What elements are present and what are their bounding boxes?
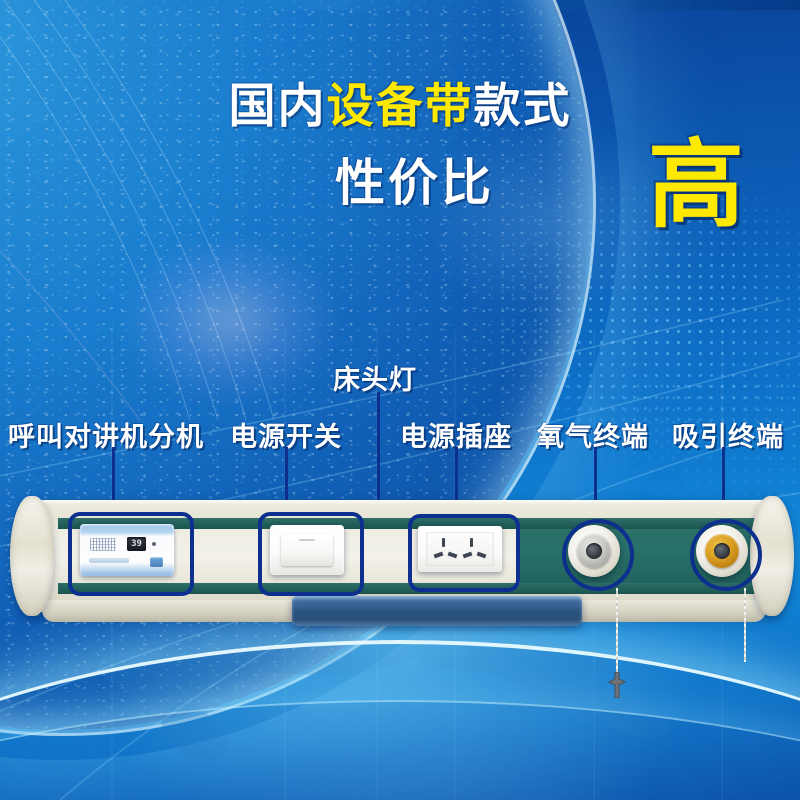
bedside-lamp-diffuser[interactable]: [292, 596, 582, 626]
headline-part-2: 款式: [474, 79, 572, 132]
headline-line-2: 性价比: [335, 158, 494, 208]
highlight-oxygen: [562, 519, 634, 591]
globe-horizon-arc: [0, 640, 800, 800]
lens-flare-2: [420, 120, 680, 320]
headline-accent: 设备带: [327, 79, 474, 132]
highlight-socket: [408, 514, 520, 592]
headline-line-1: 国内设备带款式: [0, 82, 800, 129]
highlight-suction: [690, 519, 762, 591]
highlight-intercom: [68, 512, 194, 596]
lens-flare: [120, 235, 340, 405]
oxygen-pull-cord: [616, 588, 618, 674]
highlight-switch: [258, 512, 364, 596]
suction-pull-cord: [744, 588, 746, 662]
callout-label-oxygen: 氧气终端: [537, 415, 649, 454]
medical-equipment-panel: 39: [22, 500, 782, 630]
headline-big-word: 高: [648, 138, 744, 234]
top-edge-glow: [0, 0, 800, 10]
callout-label-intercom: 呼叫对讲机分机: [8, 415, 204, 454]
headline-part-1: 国内: [229, 79, 327, 132]
panel-end-cap-left: [10, 496, 54, 616]
promo-banner: 国内设备带款式 性价比 高 呼叫对讲机分机电源开关床头灯电源插座氧气终端吸引终端…: [0, 0, 800, 800]
callout-label-bedlamp: 床头灯: [333, 358, 417, 397]
callout-label-suction: 吸引终端: [672, 415, 784, 454]
pull-cord-handle-icon[interactable]: [602, 672, 632, 698]
headline-block: 国内设备带款式: [0, 82, 800, 129]
globe-horizon-arc-2: [0, 700, 800, 800]
